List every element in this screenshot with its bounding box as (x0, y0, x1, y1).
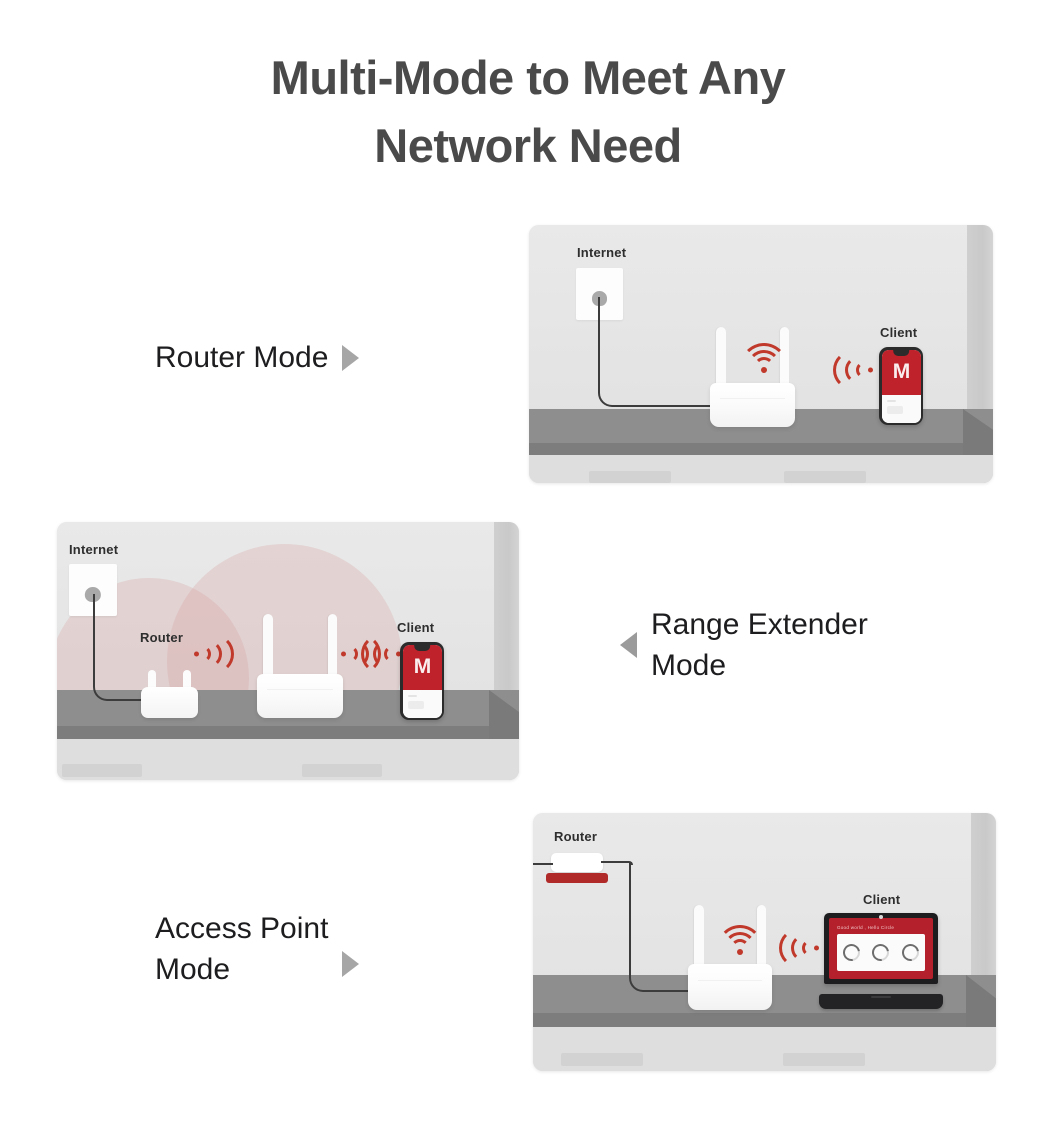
caption-client: Client (397, 620, 434, 635)
caption-client: Client (863, 892, 900, 907)
phone-brand-logo: M (893, 360, 910, 384)
mode-row-router: Router Mode Internet (0, 225, 1056, 487)
mode-label-router-mode[interactable]: Router Mode (155, 337, 359, 378)
mode-label-access-point-mode[interactable]: Access Point Mode (155, 908, 359, 991)
wifi-signal-icon (194, 634, 224, 674)
ap-body (688, 964, 772, 1010)
caption-router: Router (140, 630, 183, 645)
phone-brand-logo: M (414, 655, 431, 679)
mode-row-range-extender: Internet Router (0, 522, 1056, 784)
phone-app-area: M (882, 350, 921, 395)
caption-client: Client (880, 325, 917, 340)
signal-dot (341, 652, 346, 657)
phone-lower-area (403, 690, 442, 718)
mode-label-text: Range Extender Mode (651, 604, 868, 687)
wifi-signal-icon (791, 928, 819, 968)
client-smartphone: M (879, 347, 923, 425)
router-body (710, 383, 795, 427)
laptop-lid: Good world , Hello Circle (824, 913, 938, 984)
wifi-dot (761, 367, 767, 373)
shelf-edge (533, 1013, 996, 1027)
shelf-edge (57, 726, 519, 739)
range-extender-device (257, 614, 343, 718)
client-smartphone: M (400, 642, 444, 720)
illustration-router-mode: Internet Client (529, 225, 993, 483)
laptop-screen: Good world , Hello Circle (829, 918, 933, 979)
router-body (551, 853, 603, 872)
triangle-right-icon (342, 345, 359, 371)
phone-notch (893, 350, 909, 356)
illustration-range-extender-mode: Internet Router (57, 522, 519, 780)
cable-internet-to-router (598, 297, 710, 407)
signal-dot (194, 652, 199, 657)
cable-wall-stub (533, 863, 553, 865)
page-title-line-2: Network Need (0, 112, 1056, 180)
cable-router-to-ap-down (629, 862, 693, 992)
mode-row-access-point: Access Point Mode Router (0, 813, 1056, 1075)
phone-app-area: M (403, 645, 442, 690)
shelf-foot-left (62, 764, 142, 777)
shelf-foot-left (589, 471, 671, 483)
extender-body (257, 674, 343, 718)
shelf-foot-right (783, 1053, 865, 1066)
mode-label-range-extender-mode[interactable]: Range Extender Mode (620, 604, 868, 687)
router-base (546, 873, 607, 883)
content-circle-icon-1 (840, 941, 864, 965)
mode-label-text: Access Point Mode (155, 908, 328, 991)
wifi-dot (737, 949, 743, 955)
laptop-base (819, 994, 943, 1009)
laptop-screen-content (837, 934, 925, 971)
wifi-fan-icon (742, 343, 786, 371)
laptop-screen-header-text: Good world , Hello Circle (837, 925, 925, 930)
wifi-fan-icon (719, 925, 761, 953)
page-title: Multi-Mode to Meet Any Network Need (0, 44, 1056, 180)
phone-screen: M (882, 350, 921, 423)
illustration-access-point-mode: Router Client (533, 813, 996, 1071)
shelf-foot-right (784, 471, 866, 483)
router-device (141, 670, 198, 718)
triangle-left-icon (620, 632, 637, 658)
page-title-line-1: Multi-Mode to Meet Any (271, 51, 786, 104)
router-body (141, 687, 198, 718)
content-circle-icon-3 (899, 941, 923, 965)
caption-internet: Internet (69, 542, 118, 557)
router-device (551, 853, 603, 883)
phone-lower-area (882, 395, 921, 423)
shelf-edge (529, 443, 993, 455)
caption-internet: Internet (577, 245, 626, 260)
laptop-camera-icon (879, 915, 883, 919)
mode-label-text: Router Mode (155, 337, 328, 378)
wifi-signal-icon-in (373, 634, 401, 674)
signal-dot (868, 368, 873, 373)
phone-notch (414, 645, 430, 651)
shelf-foot-right (302, 764, 382, 777)
wifi-signal-icon (845, 350, 873, 390)
triangle-right-icon (342, 951, 359, 977)
content-circle-icon-2 (869, 941, 893, 965)
caption-router: Router (554, 829, 597, 844)
shelf-foot-left (561, 1053, 643, 1066)
client-laptop: Good world , Hello Circle (819, 913, 943, 1009)
cable-internet-to-router (93, 594, 141, 701)
phone-screen: M (403, 645, 442, 718)
